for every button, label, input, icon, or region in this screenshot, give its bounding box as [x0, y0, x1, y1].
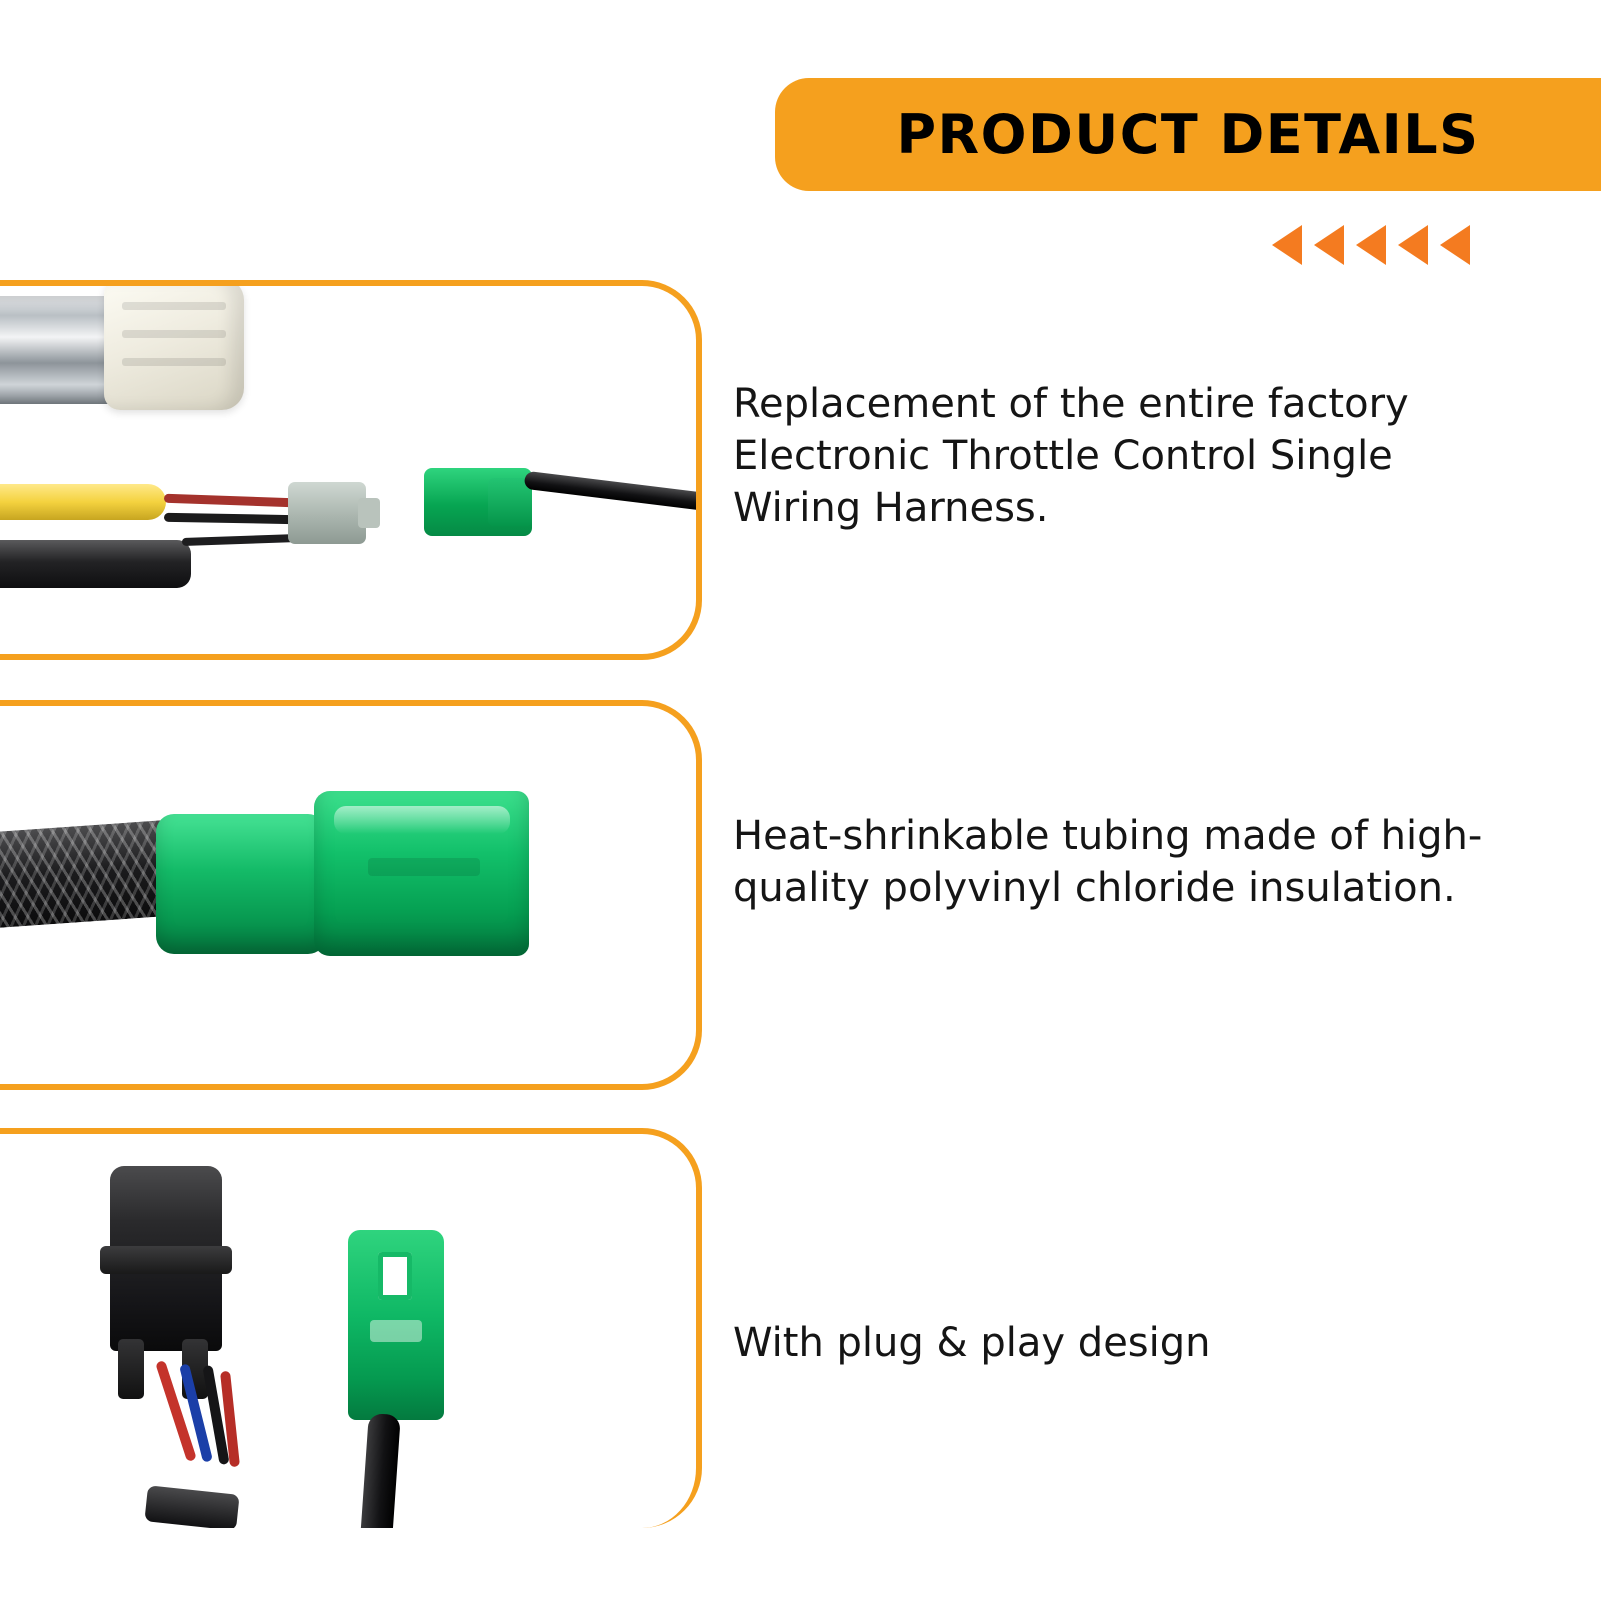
product-photo-frame-2	[0, 700, 702, 1090]
wiring-harness-connector-photo-1	[0, 286, 696, 654]
yellow-sleeved-wire	[0, 484, 166, 520]
red-wire	[164, 494, 294, 508]
grey-connector-tip	[358, 498, 380, 528]
triangle-left-icon	[1272, 225, 1302, 265]
product-details-infographic: PRODUCT DETAILS Replacement of the	[0, 0, 1601, 1601]
white-connector-rib	[122, 302, 226, 310]
black-wire	[164, 513, 296, 524]
triangle-left-icon	[1440, 225, 1470, 265]
product-details-banner: PRODUCT DETAILS	[775, 78, 1601, 191]
green-connector-tab	[370, 1320, 422, 1342]
connector-latch-slot	[368, 858, 480, 876]
product-photo-frame-1	[0, 280, 702, 660]
black-and-green-connectors-photo-3	[0, 1134, 696, 1528]
feature-text-heat-shrink: Heat-shrinkable tubing made of high-qual…	[733, 810, 1523, 914]
feature-text-replacement: Replacement of the entire factory Electr…	[733, 378, 1523, 534]
triangle-left-icon	[1314, 225, 1344, 265]
black-connector-terminal-left	[118, 1339, 144, 1399]
page-title: PRODUCT DETAILS	[896, 103, 1479, 166]
black-connector-flange	[100, 1246, 232, 1274]
arrow-decoration-row	[1272, 222, 1516, 268]
triangle-left-icon	[1356, 225, 1386, 265]
white-connector-rib	[122, 358, 226, 366]
product-photo-frame-3	[0, 1128, 702, 1528]
green-connector-lead-wire	[524, 471, 696, 512]
connector-gloss-highlight	[334, 806, 510, 834]
green-heat-shrink-ferrule	[156, 814, 326, 954]
white-connector-rib	[122, 330, 226, 338]
black-wire-secondary	[182, 534, 298, 546]
feature-text-plug-and-play: With plug & play design	[733, 1317, 1523, 1369]
green-connector-lead-wire	[359, 1413, 401, 1528]
green-connector-closeup-photo-2	[0, 706, 696, 1084]
triangle-left-icon	[1398, 225, 1428, 265]
black-sleeved-wire	[0, 540, 191, 588]
grey-connector-plug	[288, 482, 366, 544]
green-connector-latch-window	[378, 1252, 412, 1300]
